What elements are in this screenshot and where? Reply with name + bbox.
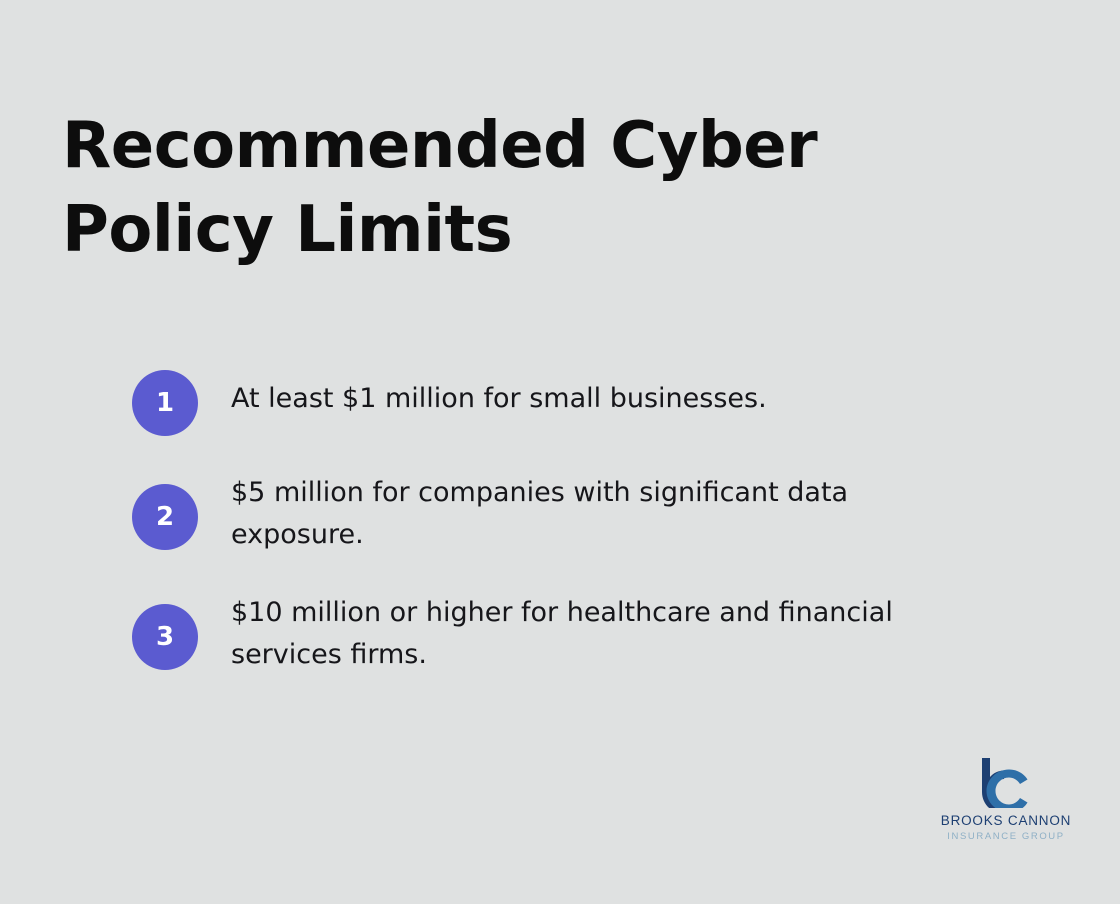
slide-canvas: Recommended Cyber Policy Limits 1 At lea…: [0, 0, 1120, 904]
numbered-list: 1 At least $1 million for small business…: [132, 370, 992, 704]
list-item-text: $10 million or higher for healthcare and…: [231, 584, 961, 676]
logo-tagline: INSURANCE GROUP: [936, 831, 1076, 842]
logo-company-name: BROOKS CANNON: [936, 813, 1076, 828]
bc-monogram-icon: [976, 756, 1036, 808]
brand-logo: BROOKS CANNON INSURANCE GROUP: [936, 756, 1076, 842]
list-item: 3 $10 million or higher for healthcare a…: [132, 584, 992, 676]
list-item-number-badge: 1: [132, 370, 198, 436]
list-item-text: $5 million for companies with significan…: [231, 464, 961, 556]
list-item-number-badge: 2: [132, 484, 198, 550]
page-title: Recommended Cyber Policy Limits: [62, 104, 982, 272]
list-item-number-badge: 3: [132, 604, 198, 670]
list-item-text: At least $1 million for small businesses…: [231, 370, 767, 420]
list-item: 2 $5 million for companies with signific…: [132, 464, 992, 556]
list-item: 1 At least $1 million for small business…: [132, 370, 992, 436]
